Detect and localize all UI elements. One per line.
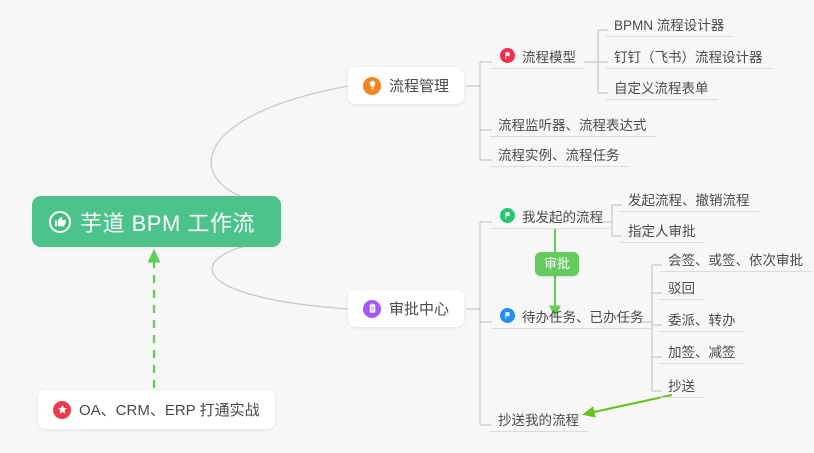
leaf-node-flow-instance[interactable]: 流程实例、流程任务 xyxy=(490,141,629,167)
flag-icon xyxy=(500,48,515,63)
leaf-label: 加签、减签 xyxy=(668,341,736,361)
leaf-node-reject[interactable]: 驳回 xyxy=(660,274,704,300)
leaf-node-add-remove-sign[interactable]: 加签、减签 xyxy=(660,338,745,364)
leaf-node-cc[interactable]: 抄送 xyxy=(660,372,704,398)
edge-root-to-approval-center xyxy=(212,240,348,309)
star-icon xyxy=(53,401,71,419)
leaf-label: BPMN 流程设计器 xyxy=(614,14,724,34)
branch-label: 审批中心 xyxy=(389,298,449,319)
leaf-node-countersign[interactable]: 会签、或签、依次审批 xyxy=(660,246,812,272)
flag-icon xyxy=(500,308,515,323)
leaf-label: 抄送我的流程 xyxy=(498,409,579,429)
leaf-label: 委派、转办 xyxy=(668,309,736,329)
callout-node-integration[interactable]: OA、CRM、ERP 打通实战 xyxy=(38,390,275,429)
lightbulb-icon xyxy=(363,77,381,95)
leaf-node-custom-form[interactable]: 自定义流程表单 xyxy=(606,74,718,100)
branch-label: 流程管理 xyxy=(389,75,449,96)
leaf-label: 抄送 xyxy=(668,375,695,395)
leaf-label: 指定人审批 xyxy=(628,220,696,240)
leaf-label: 会签、或签、依次审批 xyxy=(668,249,803,269)
leaf-label: 流程监听器、流程表达式 xyxy=(498,114,647,134)
edge-root-to-flow-management xyxy=(211,86,348,205)
thumbs-up-icon xyxy=(49,211,71,233)
cc-flow-arrow xyxy=(585,395,672,414)
leaf-label: 发起流程、撤销流程 xyxy=(628,189,750,209)
leaf-label: 我发起的流程 xyxy=(522,206,603,226)
leaf-node-delegate-transfer[interactable]: 委派、转办 xyxy=(660,306,745,332)
root-node[interactable]: 芋道 BPM 工作流 xyxy=(32,196,281,247)
leaf-node-cc-my-flows[interactable]: 抄送我的流程 xyxy=(490,406,588,432)
leaf-node-flow-model[interactable]: 流程模型 xyxy=(492,43,585,69)
leaf-label: 钉钉（飞书）流程设计器 xyxy=(614,46,763,66)
leaf-node-flow-listener[interactable]: 流程监听器、流程表达式 xyxy=(490,111,656,137)
leaf-label: 流程实例、流程任务 xyxy=(498,144,620,164)
leaf-node-dingtalk-designer[interactable]: 钉钉（飞书）流程设计器 xyxy=(606,43,772,69)
leaf-node-assignee-approval[interactable]: 指定人审批 xyxy=(620,217,705,243)
leaf-label: 驳回 xyxy=(668,277,695,297)
root-label: 芋道 BPM 工作流 xyxy=(80,206,255,238)
approval-pill: 审批 xyxy=(535,252,579,276)
leaf-node-todo-tasks[interactable]: 待办任务、已办任务 xyxy=(492,303,653,329)
mindmap-canvas: 芋道 BPM 工作流 流程管理 审批中心 流程模型 流程监听器、流程表达式 流程 xyxy=(0,0,814,453)
leaf-label: 待办任务、已办任务 xyxy=(522,306,644,326)
leaf-label: 自定义流程表单 xyxy=(614,77,709,97)
branch-node-flow-management[interactable]: 流程管理 xyxy=(348,67,464,104)
branch-node-approval-center[interactable]: 审批中心 xyxy=(348,290,464,327)
flag-icon xyxy=(500,208,515,223)
clipboard-icon xyxy=(363,300,381,318)
leaf-label: 流程模型 xyxy=(522,46,576,66)
leaf-node-bpmn-designer[interactable]: BPMN 流程设计器 xyxy=(606,11,733,37)
leaf-node-my-started-flows[interactable]: 我发起的流程 xyxy=(492,203,612,229)
leaf-node-start-cancel-flow[interactable]: 发起流程、撤销流程 xyxy=(620,186,759,212)
callout-label: OA、CRM、ERP 打通实战 xyxy=(79,399,260,420)
